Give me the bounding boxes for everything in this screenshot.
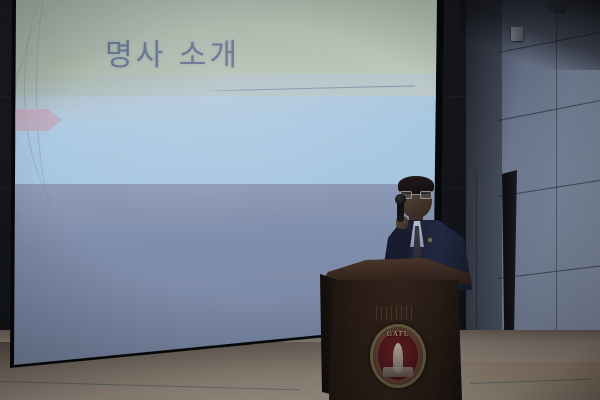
- podium-crest-emblem: GAFL: [370, 324, 426, 388]
- podium: GAFL: [320, 258, 472, 400]
- microphone-head-icon: [395, 194, 406, 205]
- glasses-lens-right: [420, 191, 432, 199]
- crest-base: [383, 367, 413, 377]
- ceiling-shadow: [460, 0, 600, 70]
- glasses-bridge: [412, 194, 420, 195]
- lapel-pin-icon: [428, 238, 432, 242]
- presentation-photo: 명사 소개 GAFL: [0, 0, 600, 400]
- podium-ribs: [376, 306, 416, 320]
- slide-title: 명사 소개: [105, 30, 240, 74]
- crest-label: GAFL: [373, 330, 423, 338]
